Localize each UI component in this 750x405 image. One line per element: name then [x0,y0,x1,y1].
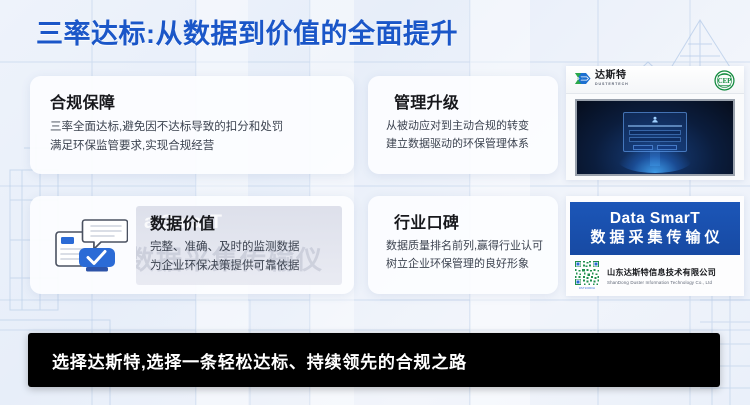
card-reputation: 行业口碑 数据质量排名前列,赢得行业认可 树立企业环保管理的良好形象 [368,196,558,294]
slide-title: 三率达标:从数据到价值的全面提升 [36,12,458,51]
screen-dialog-title [628,125,682,127]
device-brand-cn: 达斯特 [595,71,629,81]
slide-root: 三率达标:从数据到价值的全面提升 合规保障 三率全面达标,避免因不达标导致的扣分… [0,0,750,405]
user-avatar-icon [652,116,659,123]
data-report-check-icon [54,218,128,278]
card-manage-heading: 管理升级 [394,89,529,113]
card-data-line-1: 完整、准确、及时的监测数据 [150,238,300,257]
card-data-heading: 数据价值 [150,210,300,234]
card-reputation-heading: 行业口碑 [394,209,543,233]
product-company-en: ShanDong Duster Information Technology C… [607,280,716,285]
card-compliance-line-1: 三率全面达标,避免因不达标导致的扣分和处罚 [50,118,283,137]
product-company-cn: 山东达斯特信息技术有限公司 [607,266,716,278]
device-header-bar: 达斯特 DUSTERTECH CEP [566,66,744,94]
card-compliance: 合规保障 三率全面达标,避免因不达标导致的扣分和处罚 满足环保监管要求,实现合规… [30,76,354,174]
device-photo: 达斯特 DUSTERTECH CEP [566,66,744,180]
screen-reset-button[interactable] [657,145,677,150]
product-qr-wrap: DST10000H [574,260,600,290]
product-name-en: Data SmarT [610,210,700,227]
product-company: 山东达斯特信息技术有限公司 ShanDong Duster Informatio… [607,266,716,285]
product-footer: DST10000H 山东达斯特信息技术有限公司 ShanDong Duster … [574,260,738,290]
card-compliance-heading: 合规保障 [50,89,283,113]
card-manage-line-1: 从被动应对到主动合规的转变 [386,118,529,136]
screen-username-field[interactable] [629,130,681,135]
footer-banner: 选择达斯特,选择一条轻松达标、持续领先的合规之路 [28,333,720,387]
device-screen [575,99,735,176]
product-banner: Data SmarT 数据采集传输仪 [566,196,744,296]
card-manage: 管理升级 从被动应对到主动合规的转变 建立数据驱动的环保管理体系 [368,76,558,174]
product-qr-id: DST10000H [574,287,600,290]
cep-badge-label: CEP [718,78,732,85]
card-manage-line-2: 建立数据驱动的环保管理体系 [386,136,529,154]
screen-login-button[interactable] [633,145,653,150]
screen-password-field[interactable] [629,137,681,142]
card-compliance-line-2: 满足环保监管要求,实现合规经营 [50,137,283,156]
card-data-line-2: 为企业环保决策提供可靠依据 [150,257,300,276]
card-data: 数据采集传输仪 a SmarT 数据价值 完整、准确、及时的监测数据 为企业环保… [30,196,354,294]
card-reputation-line-1: 数据质量排名前列,赢得行业认可 [386,238,543,256]
card-reputation-line-2: 树立企业环保管理的良好形象 [386,256,543,274]
qr-code-icon [574,260,600,286]
dustertech-logo-icon [574,71,591,86]
device-brand: 达斯特 DUSTERTECH [574,71,629,86]
product-name-cn: 数据采集传输仪 [586,229,723,248]
screen-login-dialog [623,112,687,152]
cep-certification-badge-icon: CEP [714,70,735,91]
footer-banner-text: 选择达斯特,选择一条轻松达标、持续领先的合规之路 [52,348,467,373]
device-brand-en: DUSTERTECH [595,83,629,87]
product-name-plate: Data SmarT 数据采集传输仪 [570,202,740,255]
